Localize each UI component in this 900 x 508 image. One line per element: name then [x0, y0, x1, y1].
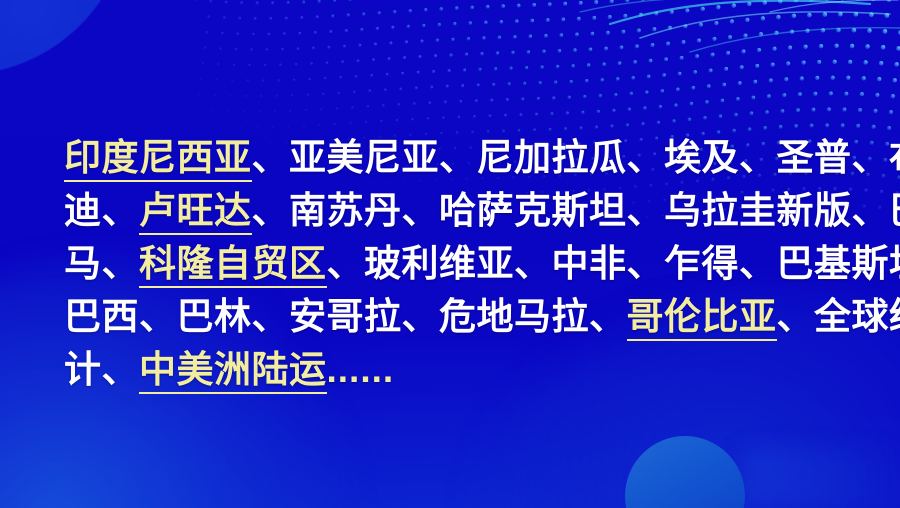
line-2-lead: 迪、	[64, 190, 139, 231]
line-4-lead: 巴西、巴林、安哥拉、危地马拉、	[64, 296, 627, 337]
highlight-term-rwanda: 卢旺达	[139, 190, 252, 235]
text-line-1: 印度尼西亚、亚美尼亚、尼加拉瓜、埃及、圣普、布隆	[64, 131, 864, 184]
bottom-right-sheen-decoration	[745, 448, 900, 506]
highlight-term-indonesia: 印度尼西亚	[64, 137, 252, 182]
text-line-2: 迪、卢旺达、南苏丹、哈萨克斯坦、乌拉圭新版、巴拿	[64, 184, 864, 237]
line-4-rest: 、全球统	[777, 296, 900, 337]
text-line-3: 马、科隆自贸区、玻利维亚、中非、乍得、巴基斯坦、	[64, 237, 864, 290]
country-list-text-block: 印度尼西亚、亚美尼亚、尼加拉瓜、埃及、圣普、布隆 迪、卢旺达、南苏丹、哈萨克斯坦…	[64, 131, 864, 396]
line-3-lead: 马、	[64, 243, 139, 284]
highlight-term-colombia: 哥伦比亚	[627, 296, 777, 341]
line-5-lead: 计、	[64, 349, 139, 390]
ellipsis-text: ......	[327, 349, 395, 390]
slide-canvas: 印度尼西亚、亚美尼亚、尼加拉瓜、埃及、圣普、布隆 迪、卢旺达、南苏丹、哈萨克斯坦…	[0, 0, 900, 508]
text-line-5: 计、中美洲陆运......	[64, 343, 864, 396]
bottom-circle-accent-decoration	[625, 436, 745, 508]
top-left-arc-decoration	[0, 0, 130, 75]
highlight-term-central-america-land-transport: 中美洲陆运	[139, 349, 327, 394]
cyan-streak-decoration	[570, 0, 900, 84]
line-3-rest: 、玻利维亚、中非、乍得、巴基斯坦、	[327, 243, 900, 284]
line-1-rest: 、亚美尼亚、尼加拉瓜、埃及、圣普、布隆	[252, 137, 900, 178]
line-2-rest: 、南苏丹、哈萨克斯坦、乌拉圭新版、巴拿	[252, 190, 900, 231]
text-line-4: 巴西、巴林、安哥拉、危地马拉、哥伦比亚、全球统	[64, 290, 864, 343]
highlight-term-colon-free-trade-zone: 科隆自贸区	[139, 243, 327, 288]
